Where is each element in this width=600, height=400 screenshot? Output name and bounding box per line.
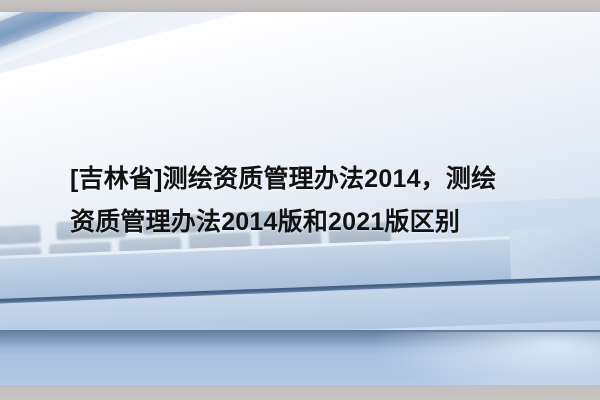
letterbox-bar-top [0,0,600,12]
screenshot-root: [吉林省]测绘资质管理办法2014，测绘 资质管理办法2014版和2021版区别 [0,0,600,400]
overlay-title: [吉林省]测绘资质管理办法2014，测绘 资质管理办法2014版和2021版区别 [70,158,570,244]
table-highlight [370,332,600,385]
overlay-title-line-2: 资质管理办法2014版和2021版区别 [70,201,570,244]
key-edge-highlight [5,235,21,245]
overlay-title-line-1: [吉林省]测绘资质管理办法2014，测绘 [70,158,570,201]
letterbox-bar-bottom [0,385,600,400]
